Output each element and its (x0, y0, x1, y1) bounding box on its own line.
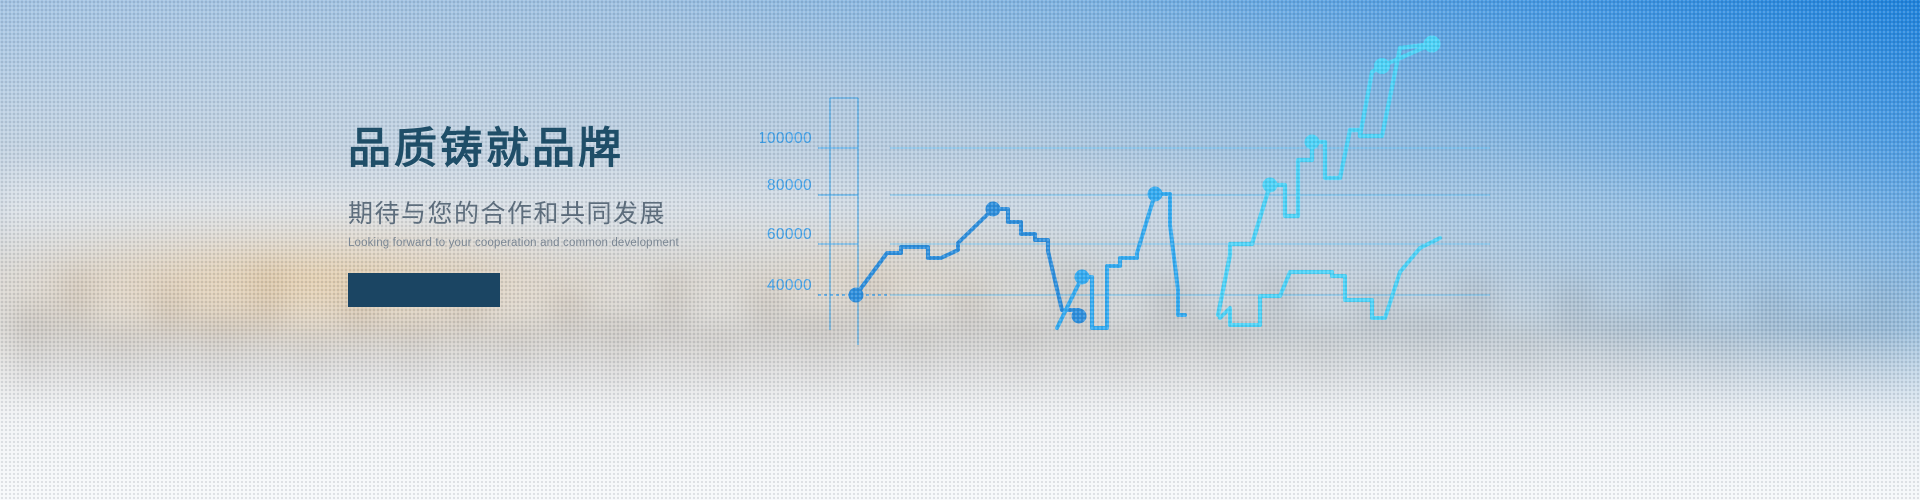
cta-button[interactable] (348, 273, 500, 307)
hero-subtitle-cn: 期待与您的合作和共同发展 (348, 199, 768, 229)
hero-banner: 100000 80000 60000 40000 (0, 0, 1920, 500)
halftone-texture-light (0, 0, 1920, 500)
page-title: 品质铸就品牌 (348, 125, 768, 173)
hero-text-block: 品质铸就品牌 期待与您的合作和共同发展 Looking forward to y… (348, 125, 768, 307)
hero-subtitle-en: Looking forward to your cooperation and … (348, 236, 768, 250)
